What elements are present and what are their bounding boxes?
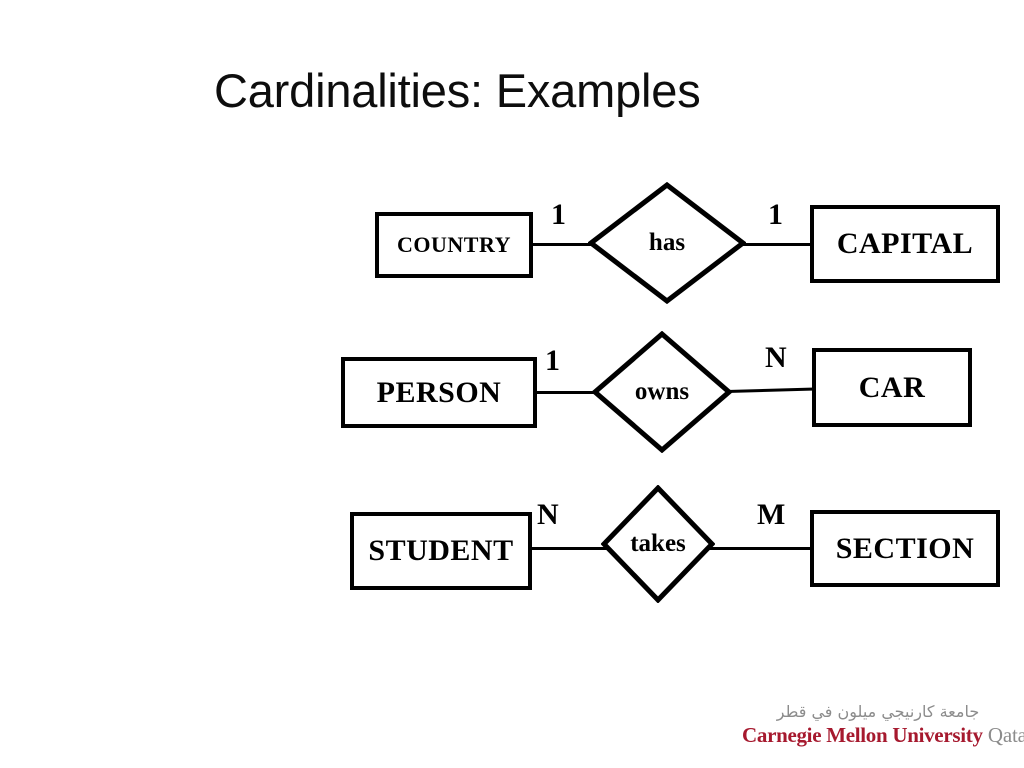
logo-university-name: Carnegie Mellon University — [742, 723, 983, 747]
entity-label-section: SECTION — [836, 534, 975, 564]
connector-line-left — [529, 547, 607, 550]
relationship-takes[interactable]: takes — [601, 485, 715, 603]
cmu-qatar-logo: جامعة كارنيجي ميلون في قطر Carnegie Mell… — [742, 702, 1014, 748]
relationship-label-owns: owns — [592, 331, 732, 453]
connector-line-right — [709, 547, 813, 550]
cardinality-left-student-takes: N — [537, 500, 559, 530]
relationship-owns[interactable]: owns — [592, 331, 732, 453]
entity-student[interactable]: STUDENT — [350, 512, 532, 590]
cardinality-left-country-has: 1 — [551, 200, 566, 230]
er-diagram: COUNTRY has CAPITAL 1 1 PERSON — [0, 0, 1024, 700]
entity-section[interactable]: SECTION — [810, 510, 1000, 587]
cardinality-right-owns-car: N — [765, 343, 787, 373]
entity-label-country: COUNTRY — [397, 234, 511, 256]
relationship-label-takes: takes — [601, 485, 715, 603]
cardinality-left-person-owns: 1 — [545, 346, 560, 376]
slide-canvas: Cardinalities: Examples COUNTRY has CAPI… — [0, 0, 1024, 768]
cardinality-right-takes-section: M — [757, 500, 785, 530]
relationship-has[interactable]: has — [588, 182, 746, 304]
entity-country[interactable]: COUNTRY — [375, 212, 533, 278]
entity-label-car: CAR — [859, 373, 926, 403]
relationship-label-has: has — [588, 182, 746, 304]
entity-label-person: PERSON — [377, 378, 502, 408]
entity-car[interactable]: CAR — [812, 348, 972, 427]
connector-line-right — [742, 243, 814, 246]
logo-latin-text: Carnegie Mellon University Qatar — [742, 723, 1014, 748]
entity-capital[interactable]: CAPITAL — [810, 205, 1000, 283]
entity-label-student: STUDENT — [368, 536, 513, 566]
logo-arabic-text: جامعة كارنيجي ميلون في قطر — [742, 702, 1014, 722]
cardinality-right-has-capital: 1 — [768, 200, 783, 230]
logo-campus-name: Qatar — [988, 723, 1024, 747]
connector-line-left — [530, 243, 592, 246]
entity-label-capital: CAPITAL — [837, 229, 973, 259]
connector-line-left — [534, 391, 596, 394]
entity-person[interactable]: PERSON — [341, 357, 537, 428]
connector-line-right — [727, 388, 815, 393]
